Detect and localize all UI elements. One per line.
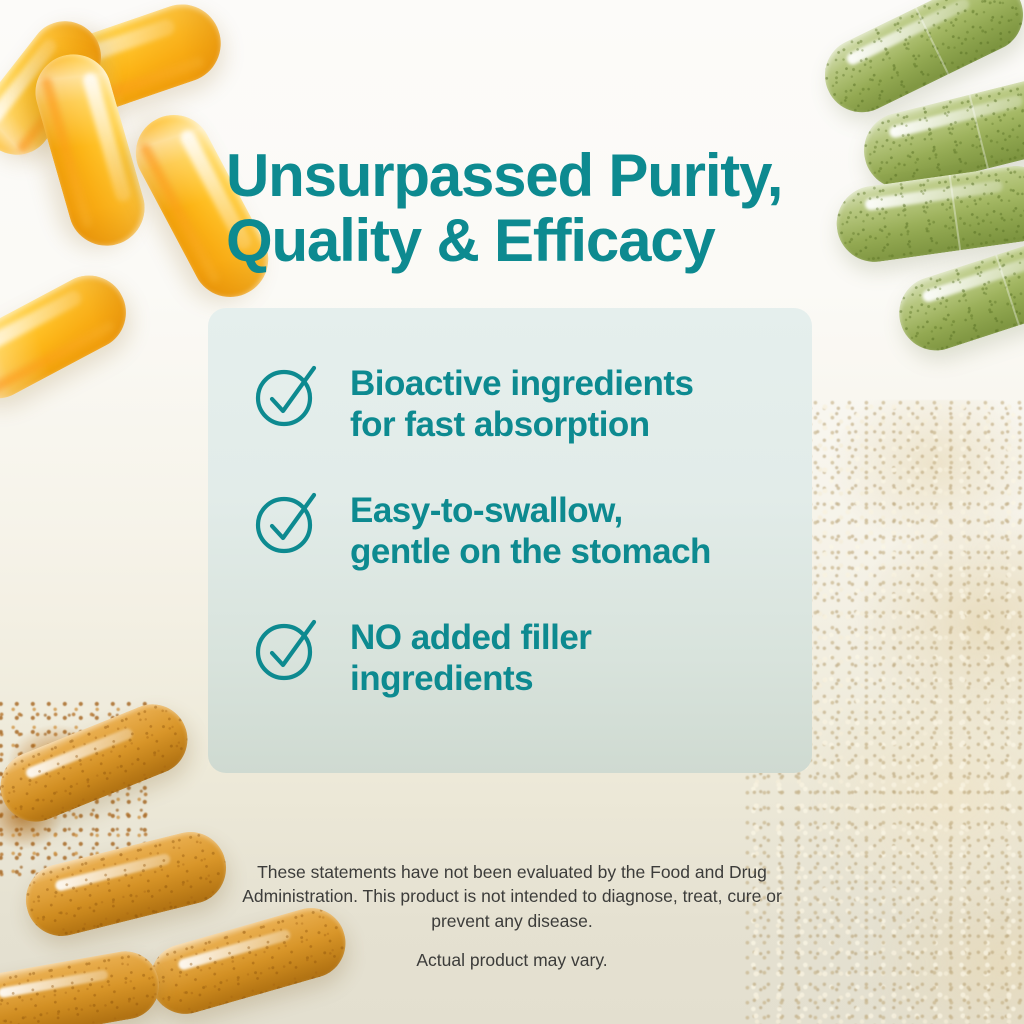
benefit-item: Bioactive ingredients for fast absorptio… — [250, 360, 786, 445]
check-circle-icon — [250, 356, 326, 432]
benefits-card: Bioactive ingredients for fast absorptio… — [208, 308, 812, 773]
benefit-label: Easy-to-swallow, gentle on the stomach — [350, 487, 711, 572]
fda-disclaimer: These statements have not been evaluated… — [212, 860, 812, 935]
page-title: Unsurpassed Purity, Quality & Efficacy — [226, 144, 826, 274]
check-circle-icon — [250, 483, 326, 559]
benefits-list: Bioactive ingredients for fast absorptio… — [250, 360, 786, 700]
benefit-item: NO added filler ingredients — [250, 614, 786, 699]
benefit-label: Bioactive ingredients for fast absorptio… — [350, 360, 693, 445]
check-circle-icon — [250, 610, 326, 686]
product-variance-note: Actual product may vary. — [212, 950, 812, 971]
benefit-label: NO added filler ingredients — [350, 614, 591, 699]
turmeric-powder-spill — [0, 700, 150, 880]
benefit-item: Easy-to-swallow, gentle on the stomach — [250, 487, 786, 572]
product-benefits-graphic: Unsurpassed Purity, Quality & Efficacy B… — [0, 0, 1024, 1024]
